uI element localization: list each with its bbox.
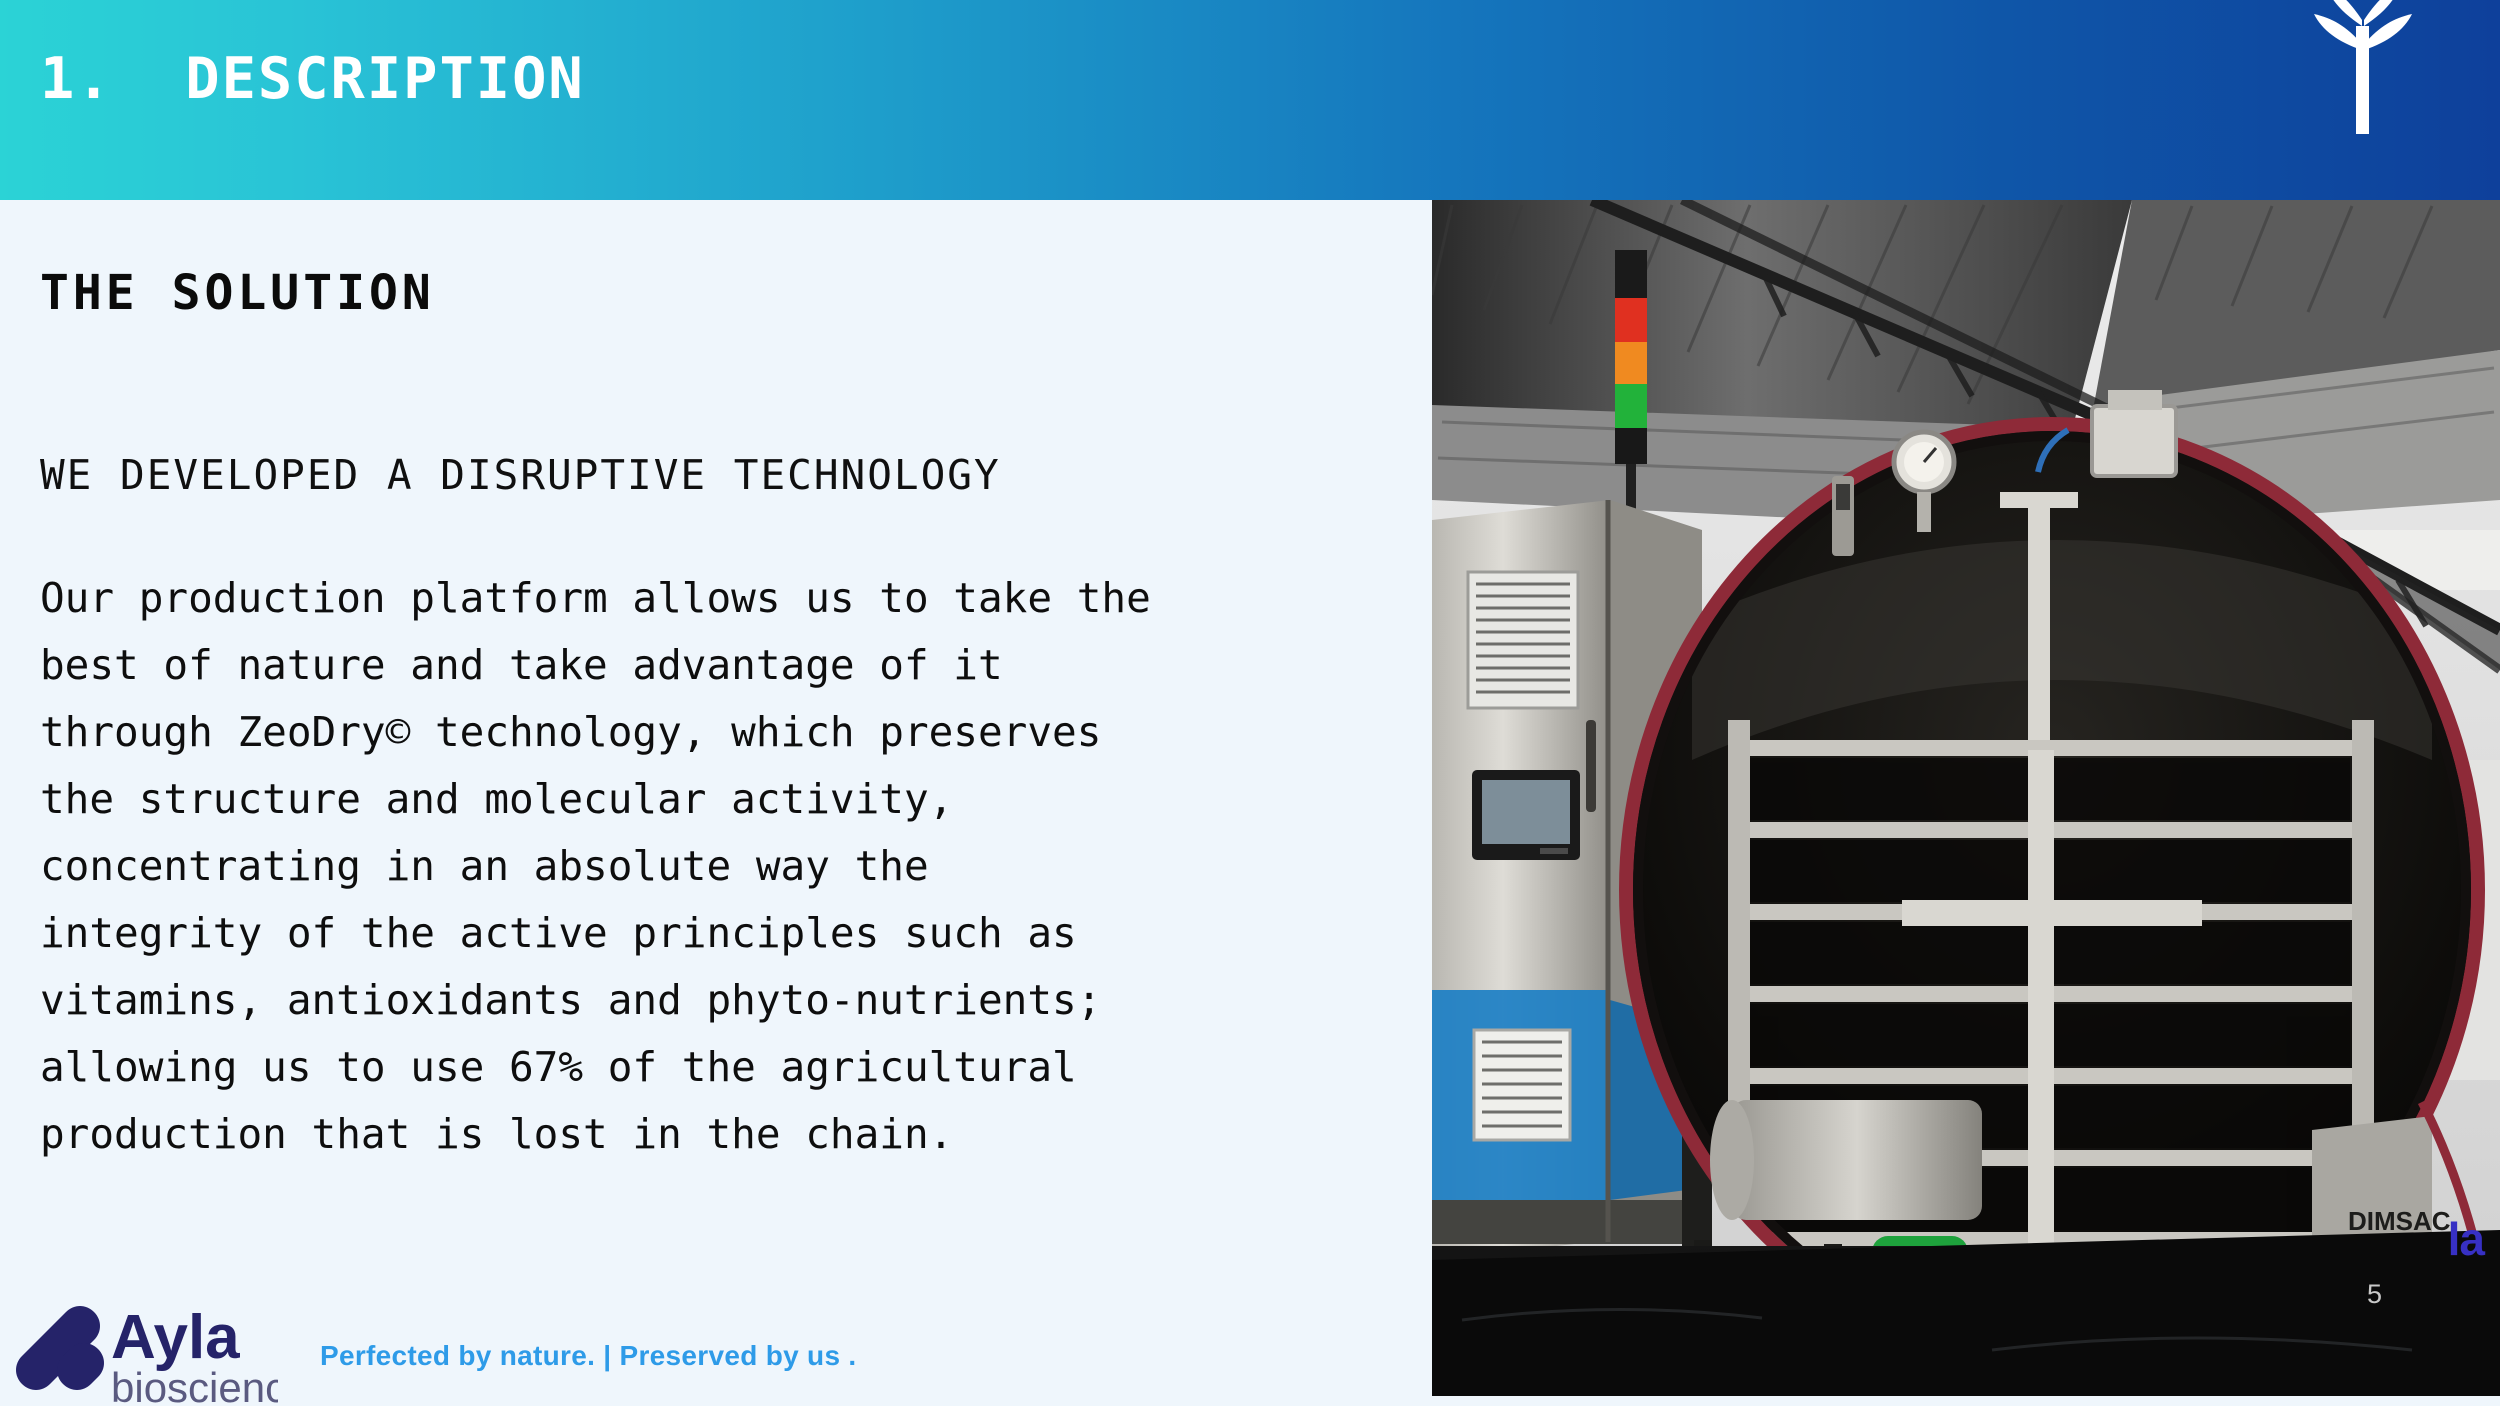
slide-header: 1. DESCRIPTION [0, 0, 2500, 200]
facility-photo-illustration: DIMSAC [1432, 200, 2500, 1396]
body-paragraph: Our production platform allows us to tak… [40, 565, 1410, 1168]
photo-bottom-edge [1432, 1396, 2500, 1406]
section-heading: THE SOLUTION [40, 265, 435, 321]
equipment-label: DIMSAC [2348, 1206, 2451, 1236]
svg-text:bioscience: bioscience [111, 1364, 278, 1406]
hmi-touch-panel [1472, 770, 1580, 860]
brand-tagline: Perfected by nature. | Preserved by us . [320, 1340, 857, 1372]
facility-photo: DIMSAC la 5 [1432, 200, 2500, 1396]
slide: 1. DESCRIPTION THE SOLUTION WE DEVELOPED… [0, 0, 2500, 1406]
side-drum [1710, 1100, 1982, 1220]
page-number: 5 [2367, 1279, 2382, 1310]
content-panel: THE SOLUTION WE DEVELOPED A DISRUPTIVE T… [0, 200, 1432, 1406]
photo-watermark: la [2448, 1212, 2484, 1266]
page-title: 1. DESCRIPTION [40, 46, 585, 112]
svg-text:Ayla: Ayla [111, 1303, 240, 1372]
cabinet-vent-top [1468, 572, 1578, 708]
ayla-logo-icon: Ayla bioscience [8, 1288, 278, 1406]
section-subtitle: WE DEVELOPED A DISRUPTIVE TECHNOLOGY [40, 451, 1001, 499]
cabinet-vent-bottom [1474, 1030, 1570, 1140]
tree-logo-icon [2298, 0, 2428, 136]
